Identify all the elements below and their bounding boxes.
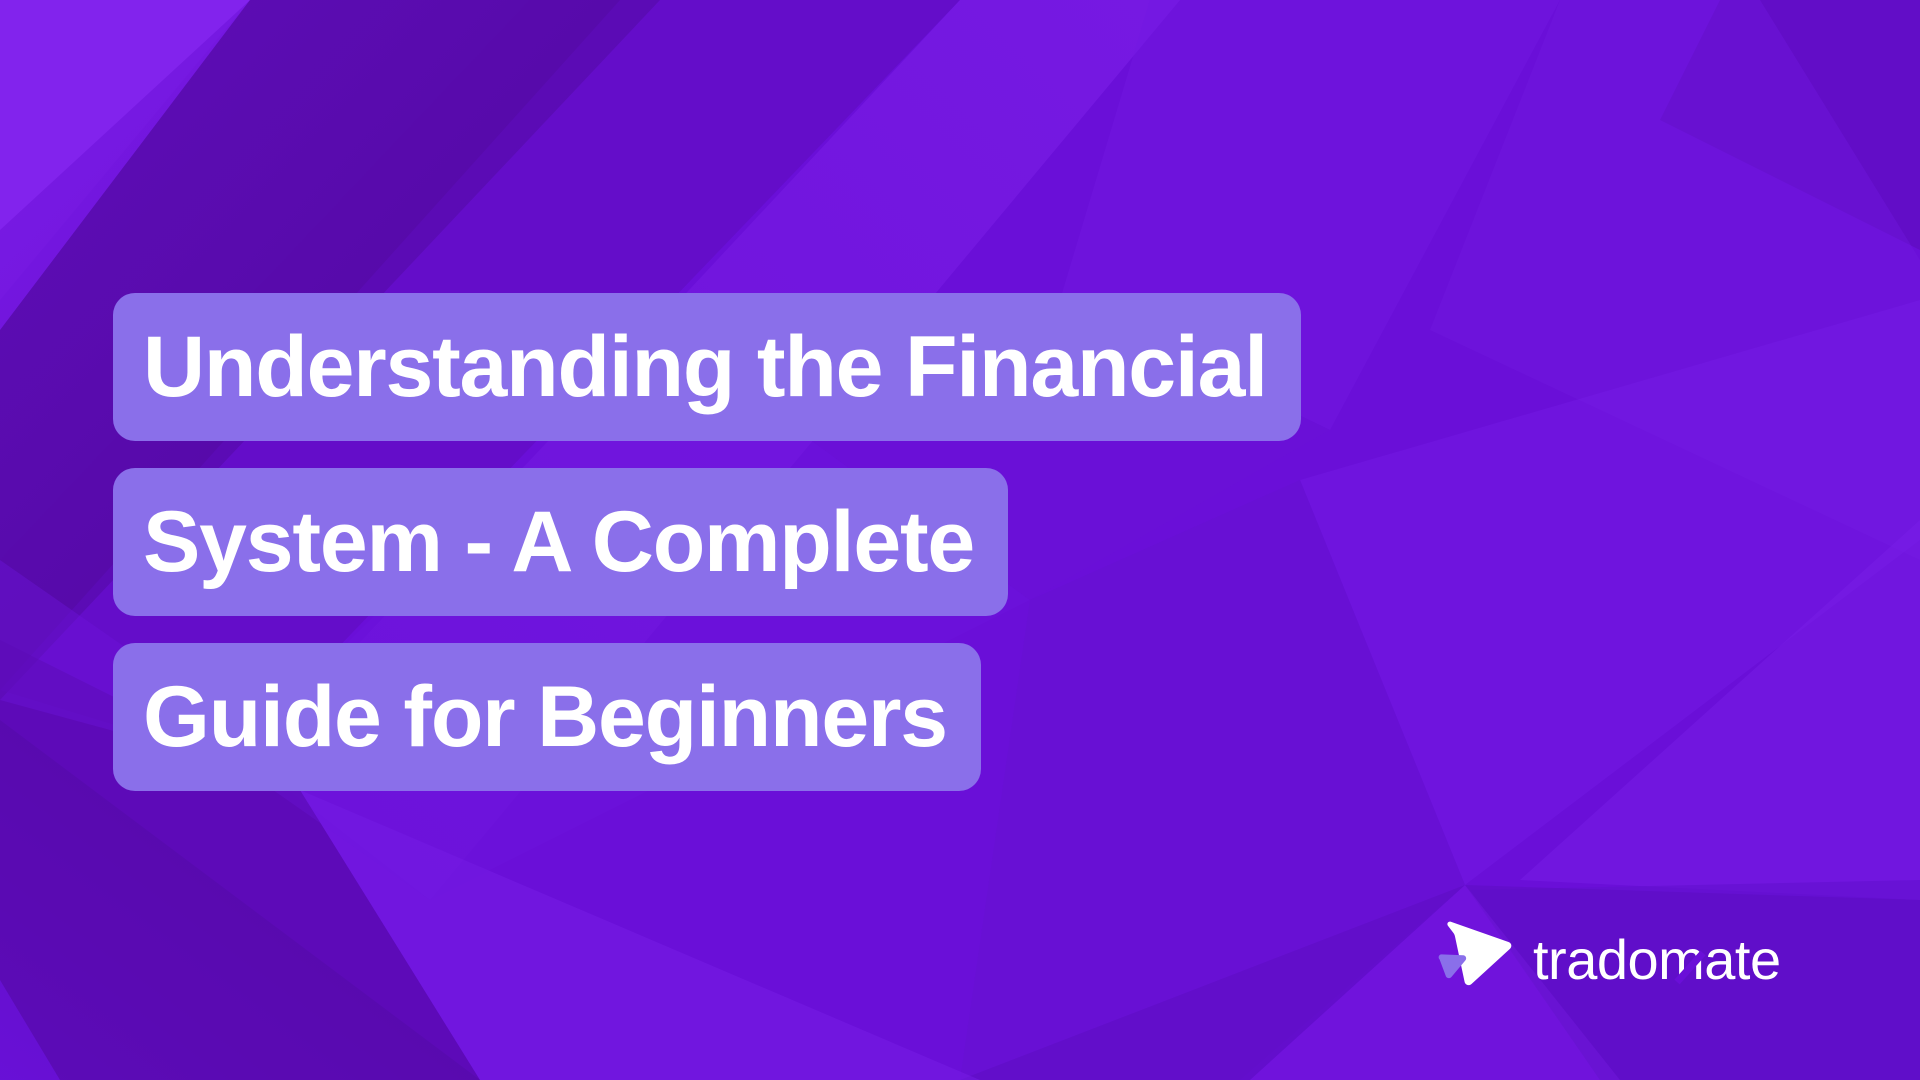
- brand-logo: tradomate: [1437, 920, 1833, 1004]
- page-title: Understanding the Financial System - A C…: [113, 293, 1713, 791]
- blog-cover-banner: Understanding the Financial System - A C…: [0, 0, 1920, 1080]
- title-line-2: System - A Complete: [113, 468, 1008, 616]
- title-line-3: Guide for Beginners: [113, 643, 981, 791]
- paper-plane-icon: [1437, 920, 1515, 1004]
- brand-wordmark: tradomate: [1533, 927, 1833, 997]
- svg-text:tradomate: tradomate: [1533, 928, 1781, 991]
- title-line-1: Understanding the Financial: [113, 293, 1301, 441]
